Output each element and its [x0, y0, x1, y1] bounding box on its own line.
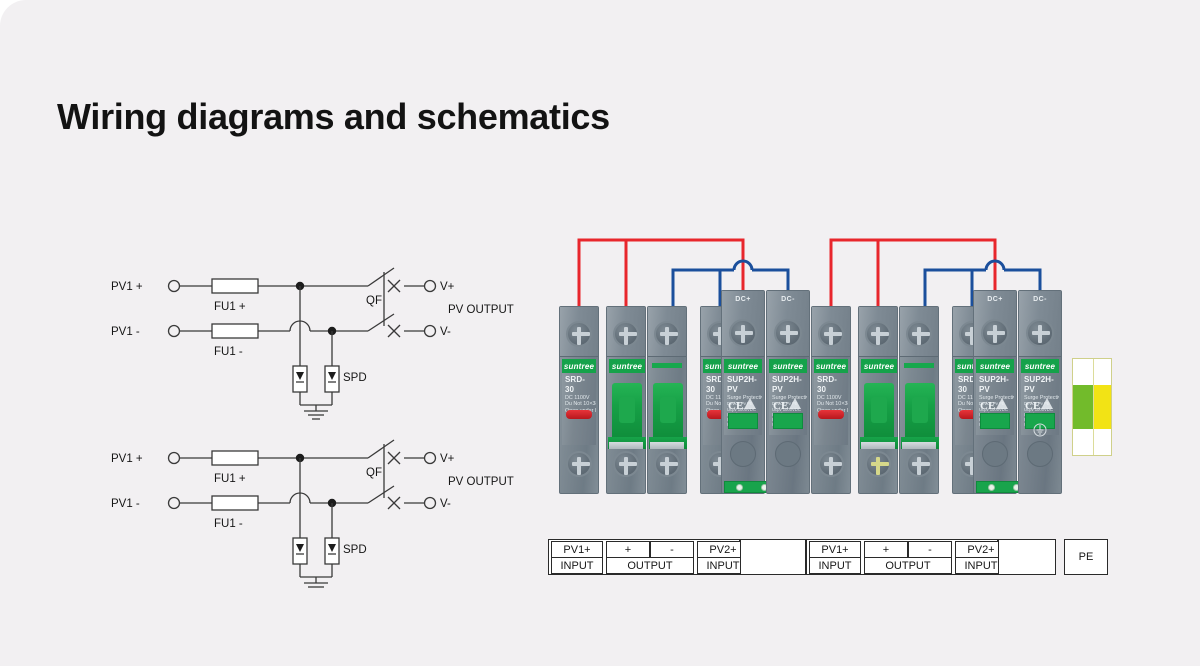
legend-cell-output-1: OUTPUT: [606, 557, 694, 574]
terminal-polarity-label: DC+: [974, 296, 1016, 303]
label-fu-pos-2: FU1 +: [214, 473, 246, 485]
mcb-base: [650, 442, 684, 449]
pe-green-half: [1073, 385, 1093, 429]
terminal-screw-icon[interactable]: [774, 319, 802, 347]
terminal-screw-icon[interactable]: [613, 451, 639, 477]
terminal-screw-icon[interactable]: [729, 319, 757, 347]
pe-divider: [1093, 359, 1094, 455]
spd-bottom-disc: [730, 441, 756, 467]
module-face: SUP2H-PV Surge Protective Device Pv PE U…: [724, 373, 762, 435]
label-qf-1: QF: [366, 295, 382, 307]
certification-row: CE: [773, 396, 804, 409]
module-cap: [648, 307, 686, 357]
legend-cell-plus-2: +: [864, 541, 908, 558]
module-type: SUP2H-PV: [727, 375, 759, 395]
ce-mark-icon: CE: [1025, 400, 1040, 412]
label-pv-output-1: PV OUTPUT: [448, 304, 514, 316]
terminal-screw-icon[interactable]: [818, 321, 844, 347]
module-type: SUP2H-PV: [979, 375, 1011, 395]
legend-cell-pe: PE: [1064, 539, 1108, 575]
module-type: SRD-30: [565, 375, 593, 395]
spd-bottom-disc: [775, 441, 801, 467]
terminal-screw-icon[interactable]: [654, 451, 680, 477]
mcb-fineprint: [903, 432, 935, 442]
module-face: SUP2H-PV Surge Protective Device Pv PE U…: [976, 373, 1014, 435]
spd-status-window: [980, 413, 1010, 429]
terminal-screw-icon[interactable]: [981, 319, 1009, 347]
module-spd-dc-plus-1[interactable]: DC+ suntree SUP2H-PV Surge Protective De…: [721, 290, 765, 494]
label-vplus-2: V+: [440, 453, 455, 465]
legend-cell-pv1plus-top-1: PV1+: [551, 541, 603, 558]
label-vminus-2: V-: [440, 498, 451, 510]
legend-group-gap-1: [740, 539, 806, 575]
schematic-diagrams: PV1 + PV1 - FU1 + FU1 - QF SPD V+ V- PV …: [78, 258, 518, 588]
label-pv-output-2: PV OUTPUT: [448, 476, 514, 488]
warning-triangle-icon: [744, 398, 756, 409]
schematic-bottom: [169, 440, 436, 588]
mcb-fineprint: [610, 432, 642, 442]
terminal-screw-icon[interactable]: [566, 321, 592, 347]
label-pv-pos-2: PV1 +: [111, 453, 143, 465]
brand-label: suntree: [861, 359, 897, 373]
module-mcb-pole-4[interactable]: [899, 306, 939, 494]
terminal-screw-icon[interactable]: [1026, 319, 1054, 347]
module-cap: [560, 307, 598, 357]
mcb-base: [861, 442, 895, 449]
module-type: SRD-30: [817, 375, 845, 395]
module-type: SUP2H-PV: [772, 375, 804, 395]
module-cap: [607, 307, 645, 357]
mcb-green-bar: [904, 363, 934, 368]
page-title: Wiring diagrams and schematics: [57, 96, 610, 138]
legend-cell-input-1: INPUT: [551, 557, 603, 574]
brand-label: suntree: [609, 359, 645, 373]
module-type: SUP2H-PV: [1024, 375, 1056, 395]
spd-bottom-disc: [982, 441, 1008, 467]
module-cap: DC+: [722, 291, 764, 357]
terminal-screw-icon[interactable]: [865, 451, 891, 477]
terminal-polarity-label: DC+: [722, 296, 764, 303]
module-fuse-holder-1[interactable]: suntree SRD-30 DC 1100V Du Not 10×38 Ope…: [559, 306, 599, 494]
label-vminus-1: V-: [440, 326, 451, 338]
module-face: SUP2H-PV Surge Protective Device Pv PE U…: [769, 373, 807, 435]
pe-terminal-block[interactable]: [1072, 358, 1112, 456]
terminal-screw-icon[interactable]: [654, 321, 680, 347]
legend-cell-minus-2: -: [908, 541, 952, 558]
terminal-screw-icon[interactable]: [906, 321, 932, 347]
warning-triangle-icon: [1041, 398, 1053, 409]
label-spd-1: SPD: [343, 372, 367, 384]
page-root: Wiring diagrams and schematics: [0, 0, 1200, 666]
module-mcb-pole-2[interactable]: [647, 306, 687, 494]
module-spd-dc-minus-1[interactable]: DC- suntree SUP2H-PV Surge Protective De…: [766, 290, 810, 494]
warning-triangle-icon: [996, 398, 1008, 409]
legend-cell-output-2: OUTPUT: [864, 557, 952, 574]
terminal-polarity-label: DC-: [1019, 296, 1061, 303]
pe-yellow-half: [1093, 385, 1111, 429]
wire-positive-bank1: [579, 240, 743, 314]
label-pv-neg-2: PV1 -: [111, 498, 140, 510]
terminal-screw-icon[interactable]: [566, 451, 592, 477]
terminal-screw-icon[interactable]: [613, 321, 639, 347]
module-mcb-pole-1[interactable]: suntree: [606, 306, 646, 494]
label-fu-neg-2: FU1 -: [214, 518, 243, 530]
module-cap: [859, 307, 897, 357]
label-fu-neg-1: FU1 -: [214, 346, 243, 358]
mcb-base: [902, 442, 936, 449]
brand-label: suntree: [724, 359, 762, 373]
terminal-screw-icon[interactable]: [865, 321, 891, 347]
module-spec-2: Du Not 10×38: [565, 401, 593, 407]
module-face: SRD-30 DC 1100V Du Not 10×38 Open under …: [562, 373, 596, 445]
module-cap: [812, 307, 850, 357]
module-cap: DC+: [974, 291, 1016, 357]
label-spd-2: SPD: [343, 544, 367, 556]
terminal-screw-icon[interactable]: [818, 451, 844, 477]
label-pv-pos-1: PV1 +: [111, 281, 143, 293]
brand-label: suntree: [976, 359, 1014, 373]
label-pv-neg-1: PV1 -: [111, 326, 140, 338]
module-cap: [900, 307, 938, 357]
ce-mark-icon: CE: [980, 400, 995, 412]
terminal-polarity-label: DC-: [767, 296, 809, 303]
label-vplus-1: V+: [440, 281, 455, 293]
brand-label: suntree: [814, 359, 848, 373]
label-qf-2: QF: [366, 467, 382, 479]
terminal-screw-icon[interactable]: [906, 451, 932, 477]
fuse-indicator[interactable]: [566, 410, 592, 419]
legend-cell-pv1plus-top-2: PV1+: [809, 541, 861, 558]
mcb-base: [609, 442, 643, 449]
certification-row: CE: [1025, 396, 1056, 409]
earth-ground-icon: [1033, 423, 1047, 437]
module-mcb-pole-3[interactable]: suntree: [858, 306, 898, 494]
legend-cell-input-2: INPUT: [809, 557, 861, 574]
module-face: SRD-30 DC 1100V Du Not 10×38 Open under …: [814, 373, 848, 445]
legend-cell-minus-1: -: [650, 541, 694, 558]
legend-group-gap-2: [998, 539, 1056, 575]
certification-row: CE: [728, 396, 759, 409]
module-fuse-holder-3[interactable]: suntree SRD-30 DC 1100V Du Not 10×38 Ope…: [811, 306, 851, 494]
mcb-fineprint: [651, 432, 683, 442]
legend-table: PV1+ INPUT + - OUTPUT PV2+ INPUT PV1+ IN…: [548, 539, 1108, 575]
schematic-top: [169, 268, 436, 419]
schematic-top-labels: PV1 + PV1 - FU1 + FU1 - QF SPD V+ V- PV …: [111, 281, 514, 384]
legend-cell-plus-1: +: [606, 541, 650, 558]
mcb-green-bar: [652, 363, 682, 368]
certification-row: CE: [980, 396, 1011, 409]
schematic-bottom-labels: PV1 + PV1 - FU1 + FU1 - QF SPD V+ V- PV …: [111, 453, 514, 556]
label-fu-pos-1: FU1 +: [214, 301, 246, 313]
brand-label: suntree: [769, 359, 807, 373]
module-cap: DC-: [767, 291, 809, 357]
module-spec-2: Du Not 10×38: [817, 401, 845, 407]
spd-bottom-disc: [1027, 441, 1053, 467]
brand-label: suntree: [1021, 359, 1059, 373]
warning-triangle-icon: [789, 398, 801, 409]
spd-status-window: [773, 413, 803, 429]
ce-mark-icon: CE: [728, 400, 743, 412]
module-cap: DC-: [1019, 291, 1061, 357]
spd-status-window: [728, 413, 758, 429]
mcb-fineprint: [862, 432, 894, 442]
wire-positive-bank2: [831, 240, 995, 314]
module-spd-dc-minus-2[interactable]: DC- suntree SUP2H-PV Surge Protective De…: [1018, 290, 1062, 494]
brand-label: suntree: [562, 359, 596, 373]
module-spd-dc-plus-2[interactable]: DC+ suntree SUP2H-PV Surge Protective De…: [973, 290, 1017, 494]
fuse-indicator[interactable]: [818, 410, 844, 419]
product-assembly: suntree SRD-30 DC 1100V Du Not 10×38 Ope…: [548, 228, 1128, 518]
ce-mark-icon: CE: [773, 400, 788, 412]
